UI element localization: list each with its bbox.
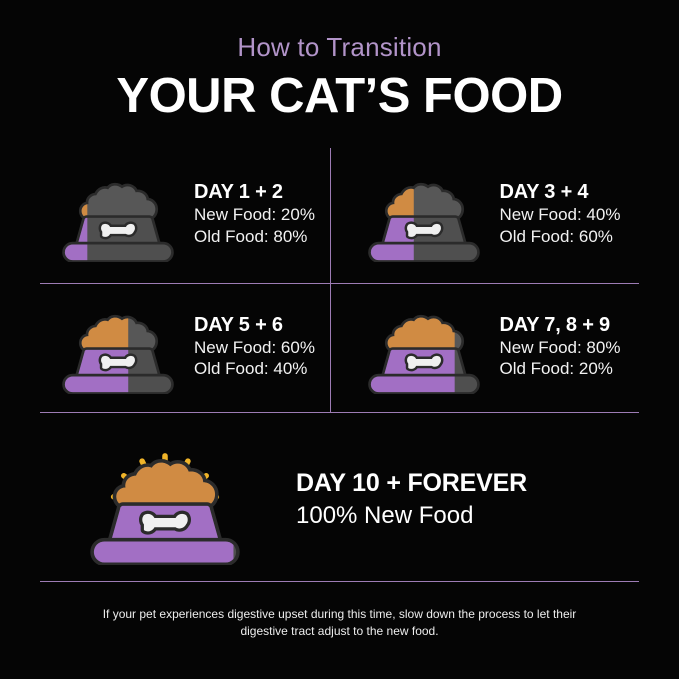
bowl-base bbox=[65, 244, 171, 260]
bowl-icon-wrap bbox=[358, 162, 490, 267]
step-card-day-1-2: DAY 1 + 2 New Food: 20% Old Food: 80% bbox=[40, 148, 340, 281]
transition-steps-grid: DAY 1 + 2 New Food: 20% Old Food: 80% bbox=[40, 148, 639, 413]
step-old-food-label: Old Food: 80% bbox=[194, 226, 340, 248]
eyebrow-text: How to Transition bbox=[0, 34, 679, 60]
bowl-icon-wrap bbox=[358, 294, 490, 399]
cat-food-bowl-icon bbox=[365, 162, 483, 267]
bowl-base bbox=[370, 244, 476, 260]
step-old-food-label: Old Food: 60% bbox=[500, 226, 640, 248]
step-day-label: DAY 1 + 2 bbox=[194, 181, 340, 204]
step-day-label: DAY 3 + 4 bbox=[500, 181, 640, 204]
step-card-day-5-6: DAY 5 + 6 New Food: 60% Old Food: 40% bbox=[40, 281, 340, 414]
divider-horizontal-footer bbox=[40, 581, 639, 582]
forever-title: DAY 10 + FOREVER bbox=[296, 469, 639, 498]
forever-subtitle: 100% New Food bbox=[296, 502, 639, 531]
bone-icon bbox=[101, 224, 135, 237]
bowl-svg bbox=[86, 431, 244, 565]
step-new-food-label: New Food: 80% bbox=[500, 337, 640, 359]
bone-icon bbox=[407, 224, 441, 237]
step-new-food-label: New Food: 20% bbox=[194, 204, 340, 226]
footnote-text: If your pet experiences digestive upset … bbox=[78, 606, 601, 640]
kibble-mound bbox=[387, 185, 461, 217]
page-title: YOUR CAT’S FOOD bbox=[0, 72, 679, 121]
step-text-block: DAY 7, 8 + 9 New Food: 80% Old Food: 20% bbox=[500, 314, 640, 381]
step-day-label: DAY 5 + 6 bbox=[194, 314, 340, 337]
step-new-food-label: New Food: 60% bbox=[194, 337, 340, 359]
step-old-food-label: Old Food: 40% bbox=[194, 358, 340, 380]
step-text-block: DAY 1 + 2 New Food: 20% Old Food: 80% bbox=[194, 181, 340, 248]
step-text-block: DAY 5 + 6 New Food: 60% Old Food: 40% bbox=[194, 314, 340, 381]
bone-icon bbox=[101, 356, 135, 369]
forever-bowl-wrap bbox=[40, 431, 290, 570]
cat-food-bowl-icon bbox=[59, 294, 177, 399]
forever-row: DAY 10 + FOREVER 100% New Food bbox=[40, 425, 639, 575]
step-day-label: DAY 7, 8 + 9 bbox=[500, 314, 640, 337]
kibble-mound bbox=[82, 185, 156, 217]
bowl-svg bbox=[365, 294, 483, 394]
bowl-icon-wrap bbox=[52, 294, 184, 399]
step-new-food-label: New Food: 40% bbox=[500, 204, 640, 226]
bowl-svg bbox=[365, 162, 483, 262]
forever-text-block: DAY 10 + FOREVER 100% New Food bbox=[290, 469, 639, 531]
step-old-food-label: Old Food: 20% bbox=[500, 358, 640, 380]
kibble-mound bbox=[82, 318, 156, 350]
step-card-day-3-4: DAY 3 + 4 New Food: 40% Old Food: 60% bbox=[340, 148, 640, 281]
bowl-base bbox=[65, 377, 171, 393]
cat-food-bowl-icon bbox=[59, 162, 177, 267]
bone-icon bbox=[142, 513, 187, 530]
step-text-block: DAY 3 + 4 New Food: 40% Old Food: 60% bbox=[500, 181, 640, 248]
cat-food-bowl-icon bbox=[365, 294, 483, 399]
kibble-mound bbox=[387, 318, 461, 350]
bone-icon bbox=[407, 356, 441, 369]
bowl-svg bbox=[59, 162, 177, 262]
header: How to Transition YOUR CAT’S FOOD bbox=[0, 0, 679, 121]
bowl-icon-wrap bbox=[52, 162, 184, 267]
bowl-base bbox=[94, 541, 236, 562]
bowl-svg bbox=[59, 294, 177, 394]
kibble-mound bbox=[116, 462, 215, 505]
bowl-base bbox=[370, 377, 476, 393]
step-card-day-7-8-9: DAY 7, 8 + 9 New Food: 80% Old Food: 20% bbox=[340, 281, 640, 414]
cat-food-bowl-icon bbox=[86, 431, 244, 570]
infographic-page: How to Transition YOUR CAT’S FOOD bbox=[0, 0, 679, 679]
